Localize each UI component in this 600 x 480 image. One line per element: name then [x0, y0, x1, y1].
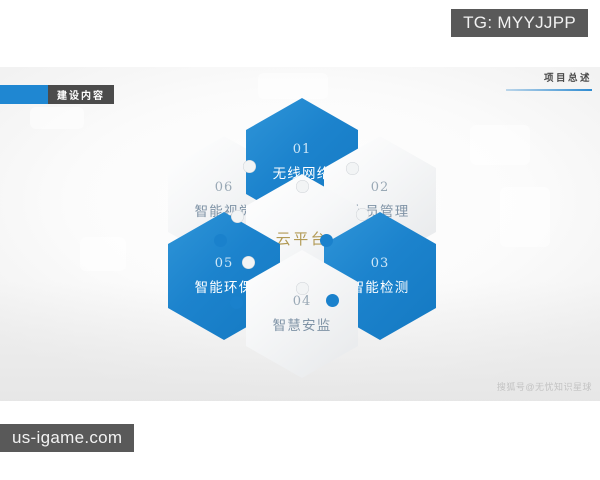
connector-knob-icon — [296, 180, 309, 193]
hex-label: 智能环保 — [195, 276, 254, 296]
hex-number: 02 — [371, 180, 390, 195]
slide-canvas: 06 智能视觉 01 无线网络 02 人员管理 云平台 05 智能环保 03 智… — [0, 67, 600, 401]
background-texture — [30, 107, 84, 129]
watermark-top: TG: MYYJJPP — [451, 9, 588, 37]
connector-knob-icon — [230, 296, 243, 309]
section-tag-label: 建设内容 — [48, 85, 114, 104]
background-texture — [500, 187, 550, 247]
connector-knob-icon — [356, 208, 369, 221]
connector-knob-icon — [320, 234, 333, 247]
watermark-bottom: us-igame.com — [0, 424, 134, 452]
connector-knob-icon — [243, 160, 256, 173]
connector-knob-icon — [214, 234, 227, 247]
hex-number: 04 — [293, 294, 312, 309]
connector-knob-icon — [326, 294, 339, 307]
hex-number: 01 — [293, 142, 312, 157]
background-texture — [258, 73, 328, 99]
background-texture — [470, 125, 530, 165]
section-tag-accent-bar — [0, 85, 48, 104]
hex-label: 智能检测 — [351, 276, 410, 296]
hex-label: 智慧安监 — [273, 314, 332, 334]
section-tag[interactable]: 建设内容 — [0, 85, 114, 104]
background-texture — [80, 237, 126, 271]
chapter-tag-underline — [506, 89, 592, 91]
connector-knob-icon — [346, 162, 359, 175]
chapter-tag-label: 项目总述 — [506, 70, 592, 84]
hex-number: 05 — [215, 256, 234, 271]
hex-number: 06 — [215, 180, 234, 195]
hexagon-cluster: 06 智能视觉 01 无线网络 02 人员管理 云平台 05 智能环保 03 智… — [168, 98, 436, 370]
chapter-tag: 项目总述 — [506, 70, 592, 91]
connector-knob-icon — [231, 210, 244, 223]
connector-knob-icon — [296, 282, 309, 295]
connector-knob-icon — [242, 256, 255, 269]
hex-number: 03 — [371, 256, 390, 271]
slide-credit: 搜狐号@无忧知识星球 — [497, 380, 592, 393]
